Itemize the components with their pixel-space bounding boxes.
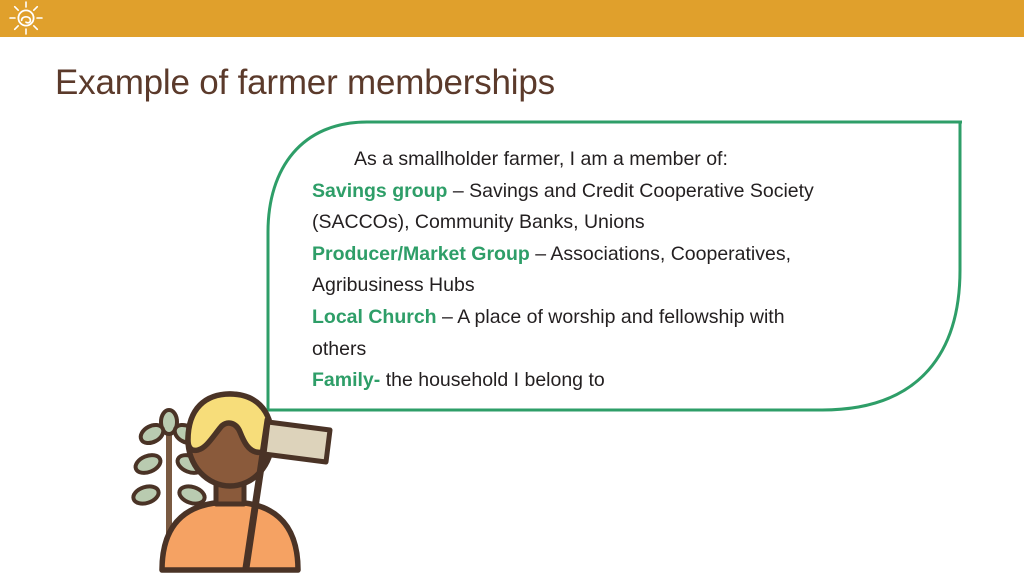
bubble-line-producer-market-group-rest: – Associations, Cooperatives, (530, 243, 791, 265)
bubble-line-local-church: Local Church – A place of worship and fe… (312, 302, 922, 334)
top-brand-bar (0, 0, 1024, 37)
bubble-line-intro: As a smallholder farmer, I am a member o… (312, 144, 922, 176)
bubble-line-intro-rest: As a smallholder farmer, I am a member o… (354, 148, 728, 170)
bubble-line-local-church-key: Local Church (312, 306, 437, 328)
farmer-shirt-icon (162, 502, 298, 570)
bubble-line-producer-market-group-key: Producer/Market Group (312, 243, 530, 265)
bubble-line-savings-group-key: Savings group (312, 180, 447, 202)
speech-bubble-text: As a smallholder farmer, I am a member o… (312, 144, 922, 397)
page-title: Example of farmer memberships (55, 61, 555, 105)
bubble-line-family: Family- the household I belong to (312, 365, 922, 397)
bubble-line-savings-group: Savings group – Savings and Credit Coope… (312, 176, 922, 208)
sun-logo-icon (8, 0, 44, 36)
bubble-line-producer-market-group-cont: Agribusiness Hubs (312, 270, 922, 302)
bubble-line-savings-group-cont-rest: (SACCOs), Community Banks, Unions (312, 211, 645, 233)
bubble-line-savings-group-cont: (SACCOs), Community Banks, Unions (312, 207, 922, 239)
bubble-line-family-rest: the household I belong to (380, 369, 604, 391)
speech-bubble: As a smallholder farmer, I am a member o… (262, 120, 962, 412)
farmer-with-flag-and-plant-illustration (116, 352, 348, 576)
flag-banner-icon (264, 422, 330, 462)
bubble-line-local-church-cont: others (312, 334, 922, 366)
bubble-line-savings-group-rest: – Savings and Credit Cooperative Society (447, 180, 813, 202)
bubble-line-local-church-rest: – A place of worship and fellowship with (437, 306, 785, 328)
bubble-line-producer-market-group: Producer/Market Group – Associations, Co… (312, 239, 922, 271)
bubble-line-producer-market-group-cont-rest: Agribusiness Hubs (312, 274, 475, 296)
